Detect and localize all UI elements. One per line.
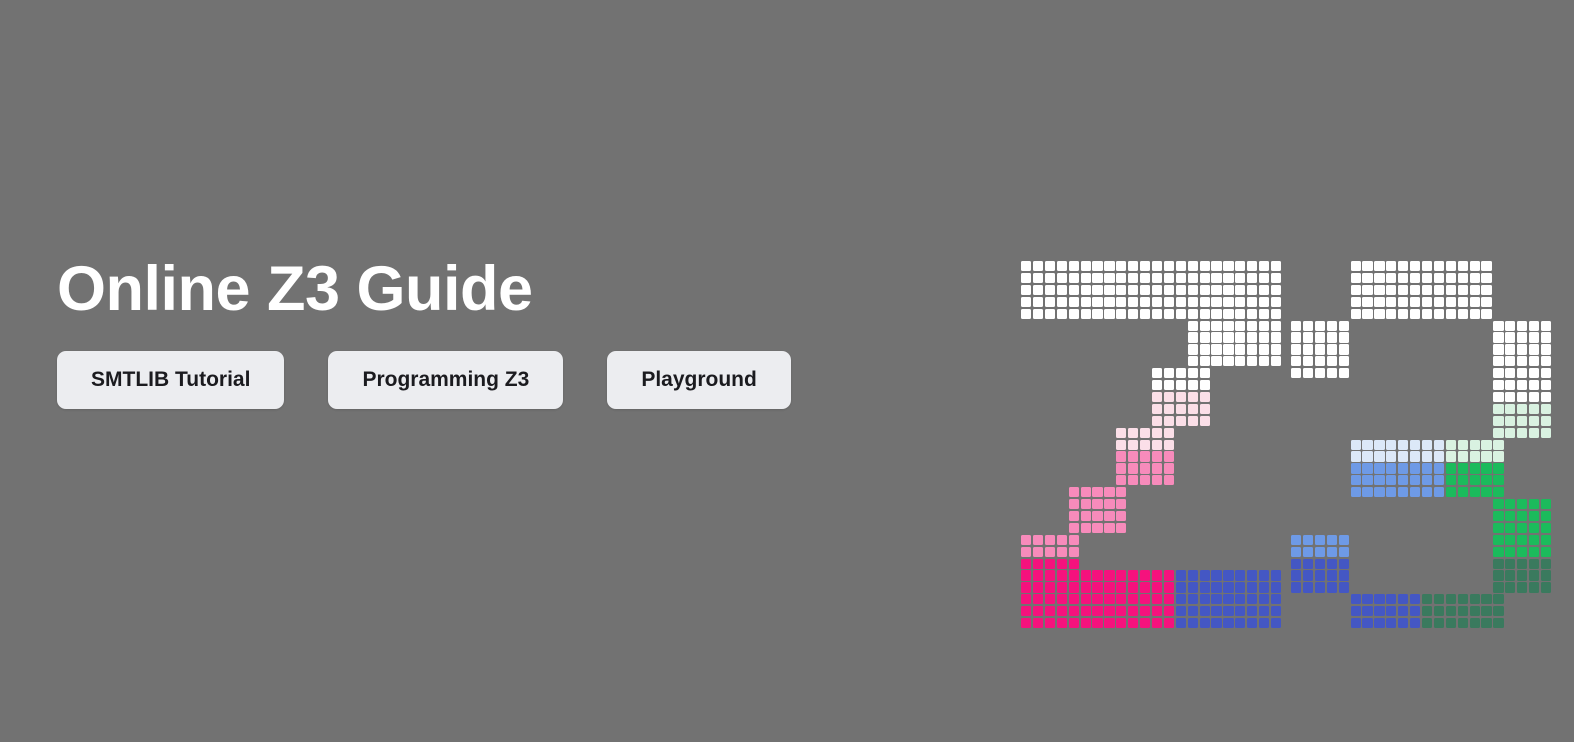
- smtlib-tutorial-button[interactable]: SMTLIB Tutorial: [57, 351, 284, 409]
- logo-pixel: [1223, 582, 1233, 592]
- logo-pixel: [1398, 487, 1408, 497]
- logo-pixel: [1188, 297, 1198, 307]
- logo-pixel: [1493, 475, 1503, 485]
- logo-pixel: [1374, 475, 1384, 485]
- logo-pixel: [1362, 463, 1372, 473]
- logo-pixel: [1259, 570, 1269, 580]
- logo-pixel: [1092, 499, 1102, 509]
- logo-pixel: [1458, 261, 1468, 271]
- logo-pixel: [1021, 606, 1031, 616]
- logo-pixel: [1446, 451, 1456, 461]
- logo-pixel: [1339, 570, 1349, 580]
- logo-pixel: [1200, 416, 1210, 426]
- logo-pixel: [1446, 487, 1456, 497]
- logo-pixel: [1176, 392, 1186, 402]
- logo-pixel: [1033, 273, 1043, 283]
- logo-pixel: [1362, 487, 1372, 497]
- logo-pixel: [1164, 309, 1174, 319]
- logo-pixel: [1351, 606, 1361, 616]
- logo-pixel: [1386, 463, 1396, 473]
- logo-pixel: [1104, 582, 1114, 592]
- logo-pixel: [1247, 594, 1257, 604]
- logo-pixel: [1351, 487, 1361, 497]
- logo-pixel: [1386, 285, 1396, 295]
- logo-pixel: [1033, 618, 1043, 628]
- logo-pixel: [1327, 547, 1337, 557]
- logo-pixel: [1541, 428, 1551, 438]
- logo-pixel: [1247, 356, 1257, 366]
- logo-pixel: [1116, 309, 1126, 319]
- logo-pixel: [1422, 606, 1432, 616]
- logo-pixel: [1291, 535, 1301, 545]
- logo-pixel: [1410, 285, 1420, 295]
- logo-pixel: [1176, 273, 1186, 283]
- logo-pixel: [1434, 463, 1444, 473]
- logo-pixel: [1092, 606, 1102, 616]
- logo-pixel: [1223, 570, 1233, 580]
- logo-pixel: [1081, 594, 1091, 604]
- logo-pixel: [1140, 463, 1150, 473]
- hero-text-block: Online Z3 Guide SMTLIB Tutorial Programm…: [57, 258, 957, 409]
- logo-pixel: [1315, 344, 1325, 354]
- logo-pixel: [1128, 475, 1138, 485]
- logo-pixel: [1493, 570, 1503, 580]
- logo-pixel: [1104, 618, 1114, 628]
- logo-pixel: [1303, 344, 1313, 354]
- logo-pixel: [1481, 487, 1491, 497]
- logo-pixel: [1211, 321, 1221, 331]
- logo-pixel: [1351, 261, 1361, 271]
- logo-pixel: [1303, 582, 1313, 592]
- logo-pixel: [1374, 261, 1384, 271]
- logo-pixel: [1315, 535, 1325, 545]
- logo-pixel: [1327, 321, 1337, 331]
- logo-pixel: [1386, 594, 1396, 604]
- logo-pixel: [1351, 273, 1361, 283]
- logo-pixel: [1152, 392, 1162, 402]
- logo-pixel: [1529, 392, 1539, 402]
- logo-pixel: [1422, 285, 1432, 295]
- logo-pixel: [1434, 606, 1444, 616]
- logo-pixel: [1470, 273, 1480, 283]
- logo-pixel: [1021, 618, 1031, 628]
- logo-pixel: [1493, 344, 1503, 354]
- logo-pixel: [1434, 285, 1444, 295]
- logo-pixel: [1211, 332, 1221, 342]
- logo-pixel: [1152, 606, 1162, 616]
- logo-pixel: [1164, 285, 1174, 295]
- logo-pixel: [1458, 440, 1468, 450]
- logo-pixel: [1481, 261, 1491, 271]
- logo-pixel: [1140, 594, 1150, 604]
- logo-pixel: [1327, 535, 1337, 545]
- logo-pixel: [1259, 618, 1269, 628]
- logo-pixel: [1235, 321, 1245, 331]
- logo-pixel: [1045, 273, 1055, 283]
- logo-pixel: [1140, 285, 1150, 295]
- logo-pixel: [1315, 332, 1325, 342]
- logo-pixel: [1374, 297, 1384, 307]
- logo-pixel: [1128, 285, 1138, 295]
- logo-pixel: [1446, 606, 1456, 616]
- logo-pixel: [1386, 451, 1396, 461]
- logo-pixel: [1493, 392, 1503, 402]
- logo-pixel: [1398, 261, 1408, 271]
- logo-pixel: [1021, 261, 1031, 271]
- logo-pixel: [1211, 594, 1221, 604]
- logo-pixel: [1517, 547, 1527, 557]
- logo-pixel: [1081, 499, 1091, 509]
- logo-pixel: [1045, 582, 1055, 592]
- logo-pixel: [1493, 451, 1503, 461]
- logo-pixel: [1140, 297, 1150, 307]
- logo-pixel: [1033, 547, 1043, 557]
- playground-button[interactable]: Playground: [607, 351, 791, 409]
- logo-pixel: [1176, 368, 1186, 378]
- logo-pixel: [1104, 499, 1114, 509]
- logo-pixel: [1259, 309, 1269, 319]
- logo-pixel: [1057, 618, 1067, 628]
- logo-pixel: [1045, 606, 1055, 616]
- logo-pixel: [1339, 582, 1349, 592]
- logo-pixel: [1140, 309, 1150, 319]
- logo-pixel: [1541, 368, 1551, 378]
- logo-pixel: [1291, 547, 1301, 557]
- logo-pixel: [1493, 559, 1503, 569]
- logo-pixel: [1529, 404, 1539, 414]
- logo-pixel: [1045, 309, 1055, 319]
- logo-pixel: [1493, 380, 1503, 390]
- logo-pixel: [1140, 570, 1150, 580]
- logo-pixel: [1176, 594, 1186, 604]
- logo-pixel: [1152, 273, 1162, 283]
- logo-pixel: [1517, 321, 1527, 331]
- logo-pixel: [1200, 321, 1210, 331]
- logo-pixel: [1211, 606, 1221, 616]
- logo-pixel: [1128, 582, 1138, 592]
- logo-pixel: [1152, 309, 1162, 319]
- logo-pixel: [1362, 594, 1372, 604]
- logo-pixel: [1505, 511, 1515, 521]
- logo-pixel: [1446, 475, 1456, 485]
- logo-pixel: [1116, 475, 1126, 485]
- logo-pixel: [1235, 606, 1245, 616]
- logo-pixel: [1081, 618, 1091, 628]
- logo-pixel: [1291, 559, 1301, 569]
- logo-pixel: [1327, 559, 1337, 569]
- programming-z3-button[interactable]: Programming Z3: [328, 351, 563, 409]
- logo-pixel: [1351, 594, 1361, 604]
- logo-pixel: [1104, 273, 1114, 283]
- logo-pixel: [1315, 559, 1325, 569]
- logo-pixel: [1045, 297, 1055, 307]
- logo-pixel: [1164, 451, 1174, 461]
- logo-pixel: [1164, 297, 1174, 307]
- logo-pixel: [1116, 618, 1126, 628]
- logo-pixel: [1164, 582, 1174, 592]
- logo-pixel: [1493, 428, 1503, 438]
- logo-pixel: [1152, 463, 1162, 473]
- logo-pixel: [1446, 273, 1456, 283]
- logo-pixel: [1541, 356, 1551, 366]
- logo-pixel: [1470, 487, 1480, 497]
- logo-pixel: [1152, 451, 1162, 461]
- logo-pixel: [1303, 570, 1313, 580]
- logo-pixel: [1434, 475, 1444, 485]
- logo-pixel: [1470, 475, 1480, 485]
- logo-pixel: [1164, 475, 1174, 485]
- logo-pixel: [1529, 356, 1539, 366]
- logo-pixel: [1033, 582, 1043, 592]
- logo-pixel: [1529, 535, 1539, 545]
- logo-pixel: [1291, 582, 1301, 592]
- logo-pixel: [1327, 356, 1337, 366]
- logo-pixel: [1116, 570, 1126, 580]
- logo-pixel: [1152, 261, 1162, 271]
- logo-pixel: [1291, 570, 1301, 580]
- logo-pixel: [1434, 440, 1444, 450]
- logo-pixel: [1362, 451, 1372, 461]
- logo-pixel: [1446, 618, 1456, 628]
- logo-pixel: [1434, 618, 1444, 628]
- logo-pixel: [1493, 356, 1503, 366]
- logo-pixel: [1235, 344, 1245, 354]
- logo-pixel: [1104, 523, 1114, 533]
- logo-pixel: [1081, 511, 1091, 521]
- logo-pixel: [1529, 416, 1539, 426]
- glyph-z: [1021, 261, 1283, 630]
- logo-pixel: [1529, 380, 1539, 390]
- logo-pixel: [1303, 547, 1313, 557]
- logo-pixel: [1493, 499, 1503, 509]
- logo-pixel: [1481, 273, 1491, 283]
- logo-pixel: [1470, 440, 1480, 450]
- logo-pixel: [1069, 297, 1079, 307]
- logo-pixel: [1152, 475, 1162, 485]
- logo-pixel: [1259, 285, 1269, 295]
- logo-pixel: [1386, 309, 1396, 319]
- logo-pixel: [1057, 547, 1067, 557]
- logo-pixel: [1069, 535, 1079, 545]
- logo-pixel: [1386, 606, 1396, 616]
- logo-pixel: [1541, 344, 1551, 354]
- logo-pixel: [1351, 440, 1361, 450]
- logo-pixel: [1211, 618, 1221, 628]
- logo-pixel: [1517, 535, 1527, 545]
- logo-pixel: [1339, 535, 1349, 545]
- logo-pixel: [1362, 297, 1372, 307]
- logo-pixel: [1517, 570, 1527, 580]
- logo-pixel: [1057, 570, 1067, 580]
- logo-pixel: [1033, 309, 1043, 319]
- logo-pixel: [1247, 273, 1257, 283]
- logo-pixel: [1434, 309, 1444, 319]
- logo-pixel: [1458, 297, 1468, 307]
- logo-pixel: [1303, 368, 1313, 378]
- logo-pixel: [1033, 570, 1043, 580]
- logo-pixel: [1200, 356, 1210, 366]
- logo-pixel: [1247, 618, 1257, 628]
- logo-pixel: [1021, 285, 1031, 295]
- logo-pixel: [1211, 273, 1221, 283]
- logo-pixel: [1188, 273, 1198, 283]
- logo-pixel: [1351, 475, 1361, 485]
- logo-pixel: [1247, 309, 1257, 319]
- logo-pixel: [1223, 261, 1233, 271]
- logo-pixel: [1116, 594, 1126, 604]
- logo-pixel: [1092, 297, 1102, 307]
- logo-pixel: [1081, 309, 1091, 319]
- logo-pixel: [1200, 392, 1210, 402]
- logo-pixel: [1128, 606, 1138, 616]
- logo-pixel: [1188, 606, 1198, 616]
- logo-pixel: [1398, 451, 1408, 461]
- logo-pixel: [1458, 451, 1468, 461]
- logo-pixel: [1081, 285, 1091, 295]
- logo-pixel: [1069, 499, 1079, 509]
- logo-pixel: [1188, 285, 1198, 295]
- logo-pixel: [1235, 594, 1245, 604]
- logo-pixel: [1176, 582, 1186, 592]
- logo-pixel: [1422, 309, 1432, 319]
- logo-pixel: [1398, 285, 1408, 295]
- logo-pixel: [1529, 559, 1539, 569]
- logo-pixel: [1116, 499, 1126, 509]
- logo-pixel: [1092, 261, 1102, 271]
- logo-pixel: [1247, 582, 1257, 592]
- logo-pixel: [1200, 344, 1210, 354]
- logo-pixel: [1200, 309, 1210, 319]
- logo-pixel: [1529, 428, 1539, 438]
- logo-pixel: [1176, 570, 1186, 580]
- logo-pixel: [1470, 297, 1480, 307]
- logo-pixel: [1176, 261, 1186, 271]
- logo-pixel: [1057, 582, 1067, 592]
- logo-pixel: [1362, 285, 1372, 295]
- logo-pixel: [1470, 285, 1480, 295]
- logo-pixel: [1493, 332, 1503, 342]
- logo-pixel: [1541, 499, 1551, 509]
- logo-pixel: [1069, 487, 1079, 497]
- logo-pixel: [1140, 273, 1150, 283]
- logo-pixel: [1410, 451, 1420, 461]
- logo-pixel: [1152, 594, 1162, 604]
- logo-pixel: [1259, 261, 1269, 271]
- logo-pixel: [1200, 606, 1210, 616]
- logo-pixel: [1458, 309, 1468, 319]
- logo-pixel: [1517, 582, 1527, 592]
- logo-pixel: [1434, 451, 1444, 461]
- logo-pixel: [1303, 356, 1313, 366]
- logo-pixel: [1045, 261, 1055, 271]
- logo-pixel: [1176, 285, 1186, 295]
- logo-pixel: [1092, 582, 1102, 592]
- logo-pixel: [1104, 570, 1114, 580]
- logo-pixel: [1259, 606, 1269, 616]
- logo-pixel: [1374, 487, 1384, 497]
- logo-pixel: [1315, 356, 1325, 366]
- logo-pixel: [1362, 440, 1372, 450]
- logo-pixel: [1247, 321, 1257, 331]
- logo-pixel: [1200, 380, 1210, 390]
- logo-pixel: [1188, 594, 1198, 604]
- logo-pixel: [1398, 273, 1408, 283]
- logo-pixel: [1374, 309, 1384, 319]
- logo-pixel: [1446, 261, 1456, 271]
- logo-pixel: [1128, 594, 1138, 604]
- logo-pixel: [1505, 344, 1515, 354]
- logo-pixel: [1481, 451, 1491, 461]
- logo-pixel: [1271, 297, 1281, 307]
- logo-pixel: [1223, 321, 1233, 331]
- logo-pixel: [1327, 570, 1337, 580]
- logo-pixel: [1164, 368, 1174, 378]
- logo-pixel: [1116, 285, 1126, 295]
- logo-pixel: [1351, 451, 1361, 461]
- logo-pixel: [1235, 285, 1245, 295]
- logo-pixel: [1303, 535, 1313, 545]
- logo-pixel: [1422, 594, 1432, 604]
- logo-pixel: [1188, 309, 1198, 319]
- logo-pixel: [1422, 487, 1432, 497]
- logo-pixel: [1188, 392, 1198, 402]
- logo-pixel: [1398, 309, 1408, 319]
- logo-pixel: [1235, 297, 1245, 307]
- logo-pixel: [1446, 285, 1456, 295]
- logo-pixel: [1481, 297, 1491, 307]
- logo-pixel: [1529, 547, 1539, 557]
- logo-pixel: [1291, 321, 1301, 331]
- logo-pixel: [1045, 535, 1055, 545]
- logo-pixel: [1493, 368, 1503, 378]
- logo-pixel: [1152, 404, 1162, 414]
- logo-pixel: [1069, 511, 1079, 521]
- logo-pixel: [1271, 321, 1281, 331]
- logo-pixel: [1339, 321, 1349, 331]
- logo-pixel: [1410, 440, 1420, 450]
- logo-pixel: [1505, 547, 1515, 557]
- logo-pixel: [1481, 594, 1491, 604]
- logo-pixel: [1339, 547, 1349, 557]
- logo-pixel: [1259, 332, 1269, 342]
- logo-pixel: [1188, 582, 1198, 592]
- logo-pixel: [1271, 582, 1281, 592]
- logo-pixel: [1470, 463, 1480, 473]
- logo-pixel: [1517, 356, 1527, 366]
- logo-pixel: [1529, 332, 1539, 342]
- logo-pixel: [1410, 297, 1420, 307]
- logo-pixel: [1069, 570, 1079, 580]
- logo-pixel: [1069, 606, 1079, 616]
- logo-pixel: [1235, 309, 1245, 319]
- logo-pixel: [1422, 463, 1432, 473]
- logo-pixel: [1069, 273, 1079, 283]
- logo-pixel: [1152, 570, 1162, 580]
- logo-pixel: [1505, 380, 1515, 390]
- logo-pixel: [1434, 487, 1444, 497]
- logo-pixel: [1069, 582, 1079, 592]
- logo-pixel: [1434, 594, 1444, 604]
- logo-pixel: [1505, 535, 1515, 545]
- logo-pixel: [1327, 582, 1337, 592]
- logo-pixel: [1505, 332, 1515, 342]
- logo-pixel: [1434, 273, 1444, 283]
- logo-pixel: [1057, 535, 1067, 545]
- logo-pixel: [1140, 440, 1150, 450]
- logo-pixel: [1081, 582, 1091, 592]
- logo-pixel: [1033, 559, 1043, 569]
- logo-pixel: [1200, 594, 1210, 604]
